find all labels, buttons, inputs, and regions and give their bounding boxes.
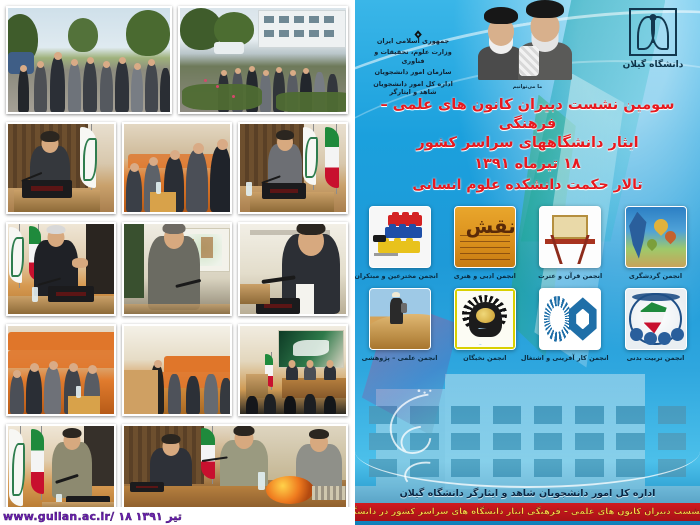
khomeini-khamenei-portrait: ما می‌توانیم — [469, 2, 587, 88]
association-label: انجمن نخبگان — [446, 354, 523, 362]
entrepreneurship-gear-icon — [539, 288, 601, 350]
poetry-book-icon: نقش — [454, 206, 516, 268]
photo-speaker-at-podium-with-laptop — [6, 122, 116, 214]
quran-stand-icon — [539, 206, 601, 268]
event-poster: دانشگاه گیلان ۪ جمهوری اسلامی ایران وزار… — [355, 0, 700, 525]
event-date: ۱۸ تیرماه ۱۳۹۱ — [355, 153, 700, 175]
ministry-line-4: اداره کل امور دانشجویان شاهد و ایثارگر — [365, 80, 461, 97]
photo-speaker-beside-flags — [6, 424, 116, 514]
photo-group-walking-past-buildings — [178, 6, 348, 114]
event-venue: تالار حکمت دانشکده علوم انسانی — [355, 175, 700, 195]
association-label: انجمن علمی – پژوهشی — [361, 354, 438, 362]
sport-emblem-icon — [625, 288, 687, 350]
association-row-2: انجمن تربیت بدنی انجمن کار آفرینی و اشتغ… — [361, 288, 694, 362]
photo-second-speaker-at-podium — [238, 122, 348, 214]
ministry-line-3: سازمان امور دانشجویان — [365, 68, 461, 76]
photo-man-in-suit-close-up — [238, 222, 348, 316]
invention-blocks-icon — [369, 206, 431, 268]
association-label: انجمن قرآن و عترت — [532, 272, 609, 280]
association-literary[interactable]: نقش انجمن ادبی و هنری — [446, 206, 523, 280]
association-label: انجمن مخترعین و مبتکران — [361, 272, 438, 280]
ministry-line-2: وزارت علوم، تحقیقات و فناوری — [365, 48, 461, 65]
guilan-university-logo: دانشگاه گیلان — [612, 6, 694, 92]
tourism-icon — [625, 206, 687, 268]
title-line-1: سومین نشست دبیران کانون های علمی – فرهنگ… — [355, 96, 700, 134]
footer-banner-text: سومین نشست دبیران کانون های علمی – فرهنگ… — [355, 507, 700, 517]
association-label: انجمن تربیت بدنی — [617, 354, 694, 362]
association-grid: انجمن گردشگری انجمن قرآن و عترت نقش — [361, 206, 694, 370]
photo-speaker-gesturing-at-lectern — [6, 222, 116, 316]
association-scientific-research[interactable]: انجمن علمی – پژوهشی — [361, 288, 438, 362]
association-physical-education[interactable]: انجمن تربیت بدنی — [617, 288, 694, 362]
association-tourism[interactable]: انجمن گردشگری — [617, 206, 694, 280]
photo-panel-on-stage-with-screen — [238, 324, 348, 416]
association-row-1: انجمن گردشگری انجمن قرآن و عترت نقش — [361, 206, 694, 280]
photo-man-speaking-into-microphone — [122, 222, 232, 316]
poster-title: سومین نشست دبیران کانون های علمی – فرهنگ… — [355, 96, 700, 195]
research-hiker-icon — [369, 288, 431, 350]
footer-banner: سومین نشست دبیران کانون های علمی – فرهنگ… — [355, 503, 700, 521]
poster-screenshot: www.guilan.ac.ir/ ۱۸ تیر ۱۳۹۱ — [0, 0, 700, 525]
organizer-footer: اداره کل امور دانشجویان شاهد و ایثارگر د… — [355, 488, 700, 499]
university-name: دانشگاه گیلان — [612, 60, 694, 70]
association-quran[interactable]: انجمن قرآن و عترت — [532, 206, 609, 280]
ministry-line-1: جمهوری اسلامی ایران — [365, 37, 461, 45]
association-label: انجمن گردشگری — [617, 272, 694, 280]
association-label: انجمن کار آفرینی و اشتغال — [532, 354, 609, 362]
photo-hall-with-students-standing — [122, 324, 232, 416]
portrait-caption: ما می‌توانیم — [475, 84, 581, 90]
website-url-band: www.guilan.ac.ir/ ۱۸ تیر ۱۳۹۱ — [0, 507, 355, 525]
association-label: انجمن ادبی و هنری — [446, 272, 523, 280]
association-elites[interactable]: انجمن نخبگان — [446, 288, 523, 362]
photo-three-men-at-head-table-with-flowers — [122, 424, 348, 514]
photo-auditorium-seated-guests — [6, 324, 116, 416]
elites-brain-icon — [454, 288, 516, 350]
bottom-wave-decoration — [355, 415, 700, 489]
association-entrepreneurship[interactable]: انجمن کار آفرینی و اشتغال — [532, 288, 609, 362]
guilan-logo-mark — [629, 8, 677, 56]
photo-seated-audience-front-row — [122, 122, 232, 214]
title-line-2: ایثار دانشگاههای سراسر کشور — [355, 134, 700, 153]
portrait-khamenei — [515, 0, 575, 80]
website-url-text: www.guilan.ac.ir/ ۱۸ تیر ۱۳۹۱ — [0, 510, 182, 523]
association-inventors[interactable]: انجمن مخترعین و مبتکران — [361, 206, 438, 280]
photo-collage: www.guilan.ac.ir/ ۱۸ تیر ۱۳۹۱ — [0, 0, 355, 525]
iran-emblem-icon: ۪ — [365, 8, 461, 34]
government-emblem-block: ۪ جمهوری اسلامی ایران وزارت علوم، تحقیقا… — [365, 8, 461, 96]
photo-officials-walking-campus-road — [6, 6, 172, 114]
